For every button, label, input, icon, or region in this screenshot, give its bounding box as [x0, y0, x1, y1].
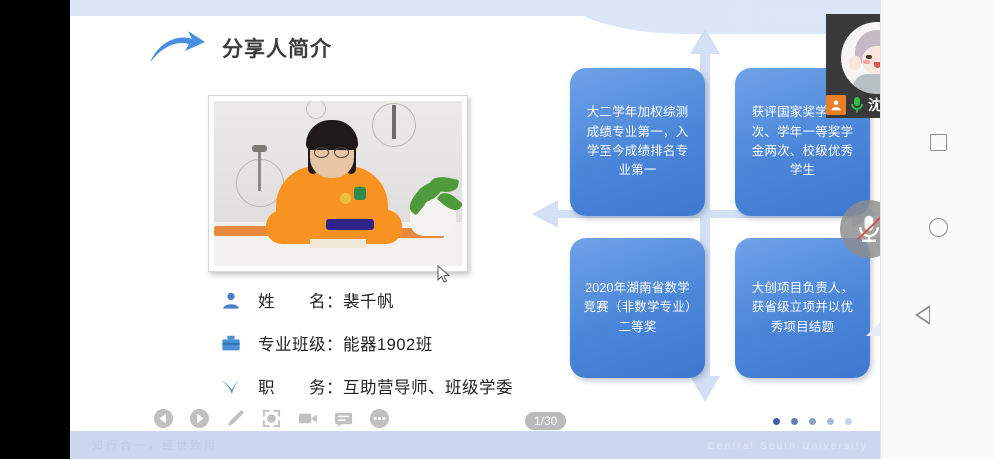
info-row-label: 姓 名：裴千帆 [258, 288, 394, 312]
info-row-class: 专业班级：能器1902班 [220, 331, 513, 355]
more-button[interactable] [368, 407, 390, 429]
slide-canvas[interactable]: 中南大学 分享人简介 [70, 0, 880, 459]
triangle-left-icon[interactable] [930, 305, 946, 325]
camera-button[interactable] [296, 407, 318, 429]
mouse-cursor-icon [437, 265, 451, 283]
quadrant-box-text: 大创项目负责人，获省级立项并以优秀项目结题 [747, 279, 858, 337]
quadrant-box-top-left[interactable]: 大二学年加权综测成绩专业第一，入学至今成绩排名专业第一 [570, 68, 705, 216]
speaker-info-list: 姓 名：裴千帆 专业班级：能器1902班 [220, 288, 513, 398]
footer-motto: 知行合一，经世致用 [92, 437, 218, 453]
person-icon [220, 290, 242, 310]
briefcase-icon [220, 333, 242, 353]
screen: 中南大学 分享人简介 [0, 0, 995, 459]
person-badge-icon [826, 95, 846, 115]
page-title-row: 分享人简介 [148, 30, 332, 66]
progress-dot[interactable] [773, 418, 780, 425]
page-indicator: 1/30 [525, 412, 566, 430]
chat-button[interactable] [332, 407, 354, 429]
footer-university: Central South University [707, 441, 868, 452]
annotate-button[interactable] [224, 407, 246, 429]
info-row-name: 姓 名：裴千帆 [220, 288, 513, 312]
progress-dot[interactable] [809, 418, 816, 425]
corner-decoration [866, 320, 880, 336]
square-icon[interactable] [930, 134, 947, 151]
progress-dot[interactable] [845, 418, 852, 425]
quadrant-box-bottom-right[interactable]: 大创项目负责人，获省级立项并以优秀项目结题 [735, 238, 870, 378]
info-row-label: 职 务：互助营导师、班级学委 [258, 374, 513, 398]
progress-dot[interactable] [791, 418, 798, 425]
info-row-label: 专业班级：能器1902班 [258, 331, 433, 355]
check-icon [220, 376, 242, 396]
quadrant-box-text: 2020年湖南省数学竞赛（非数学专业）二等奖 [582, 279, 693, 337]
quadrant-box-text: 大二学年加权综测成绩专业第一，入学至今成绩排名专业第一 [582, 103, 693, 181]
progress-dot[interactable] [827, 418, 834, 425]
page-title: 分享人简介 [222, 33, 332, 63]
quadrant-diagram: 大二学年加权综测成绩专业第一，入学至今成绩排名专业第一 获评国家奖学金两次、学年… [480, 20, 880, 410]
android-navigation-bar[interactable] [880, 0, 995, 459]
circle-icon[interactable] [929, 218, 948, 237]
next-slide-button[interactable] [188, 407, 210, 429]
slide-progress-dots[interactable] [773, 418, 852, 425]
screenshot-button[interactable] [260, 407, 282, 429]
microphone-on-icon [849, 96, 865, 114]
presentation-toolbar[interactable] [152, 407, 390, 429]
speaker-photo [208, 95, 468, 272]
curved-arrow-icon [148, 30, 206, 66]
info-row-role: 职 务：互助营导师、班级学委 [220, 374, 513, 398]
quadrant-box-bottom-left[interactable]: 2020年湖南省数学竞赛（非数学专业）二等奖 [570, 238, 705, 378]
prev-slide-button[interactable] [152, 407, 174, 429]
